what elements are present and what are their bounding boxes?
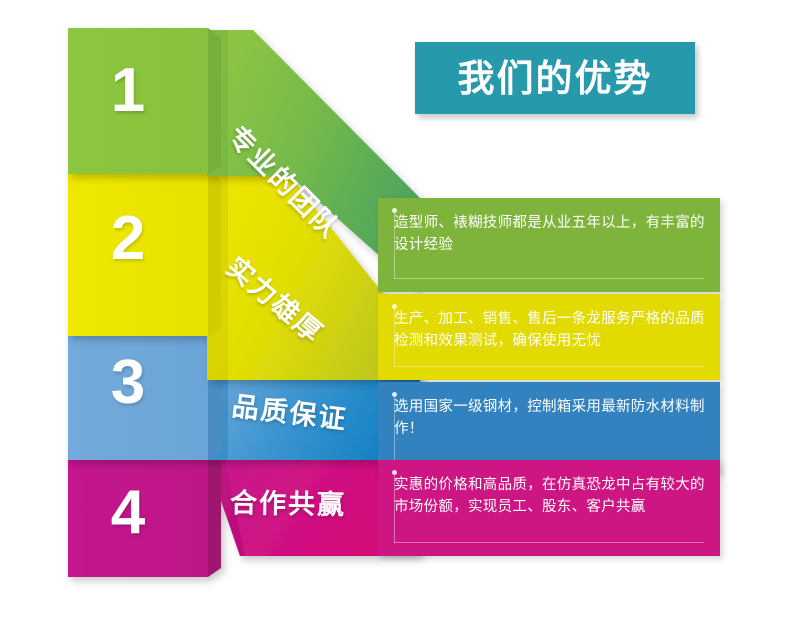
description-panel-4: 实惠的价格和高品质，在仿真恐龙中占有较大的市场份额，实现员工、股东、客户共赢 [378,460,720,556]
description-text-2: 生产、加工、销售、售后一条龙服务严格的品质检测和效果测试，确保使用无忧 [394,308,708,353]
bracket-horizontal-rule [394,542,704,543]
ribbon-caption-4: 合作共赢 [230,490,346,519]
description-panel-1: 造型师、裱糊技师都是从业五年以上，有丰富的设计经验 [378,198,720,292]
description-text-4: 实惠的价格和高品质，在仿真恐龙中占有较大的市场份额，实现员工、股东、客户共赢 [394,474,708,519]
advantages-infographic: 我们的优势 1 2 3 4 专业的团队 实力雄厚 品质保证 合作共赢 造型师、裱… [0,0,800,622]
bracket-horizontal-rule [394,366,704,367]
step-number-4: 4 [73,482,183,544]
step-number-3: 3 [73,352,183,414]
description-text-3: 选用国家一级钢材，控制箱采用最新防水材料制作！ [394,396,708,441]
description-text-1: 造型师、裱糊技师都是从业五年以上，有丰富的设计经验 [394,212,708,257]
description-panel-2: 生产、加工、销售、售后一条龙服务严格的品质检测和效果测试，确保使用无忧 [378,294,720,380]
step-number-2: 2 [73,208,183,270]
step-number-1: 1 [73,60,183,122]
title-banner: 我们的优势 [415,42,695,114]
bracket-horizontal-rule [394,278,704,279]
page-title: 我们的优势 [458,60,653,97]
